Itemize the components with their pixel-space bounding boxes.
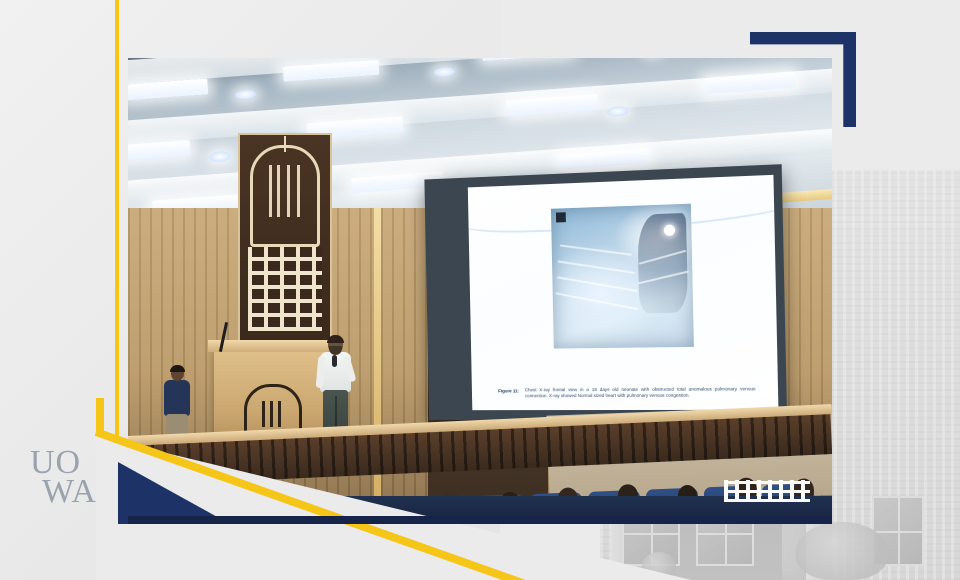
presenter-microphone bbox=[332, 355, 337, 367]
slide-caption: Figure 11: Chest X-ray frontal view in a… bbox=[498, 387, 756, 399]
slide-figure-label: Figure 11: bbox=[498, 388, 519, 394]
ceiling-light-3 bbox=[482, 58, 573, 61]
projection-screen-frame: Figure 11: Chest X-ray frontal view in a… bbox=[424, 164, 787, 420]
xray-rib-2 bbox=[558, 261, 636, 275]
xray-rib-1 bbox=[560, 245, 632, 256]
navy-bottom-band bbox=[128, 516, 832, 524]
ceiling-spot-1 bbox=[234, 89, 257, 101]
xray-rib-4 bbox=[556, 293, 639, 311]
uowa-logo-line2: WA bbox=[30, 477, 97, 506]
chest-xray-radiograph bbox=[551, 204, 695, 349]
xray-corner-marker bbox=[556, 213, 566, 223]
ceiling-light-5 bbox=[128, 140, 191, 162]
xray-rib-3 bbox=[557, 277, 637, 293]
slide-caption-text: Chest X-ray frontal view in a 18 days ol… bbox=[525, 387, 756, 399]
architecture-shrub-1 bbox=[796, 522, 888, 580]
ceiling-spot-2 bbox=[433, 66, 456, 78]
arabic-calligraphy-emblem bbox=[238, 133, 332, 347]
promotional-graphic: Figure 11: Chest X-ray frontal view in a… bbox=[0, 0, 960, 580]
person-left-hair bbox=[170, 365, 185, 372]
lecture-hall-photo: Figure 11: Chest X-ray frontal view in a… bbox=[128, 58, 832, 524]
uowa-logo: UO WA bbox=[30, 448, 97, 506]
presenter-hair bbox=[327, 335, 344, 343]
emblem-calligraphy bbox=[263, 165, 307, 217]
ceiling-spot-5 bbox=[606, 106, 629, 118]
presentation-slide: Figure 11: Chest X-ray frontal view in a… bbox=[468, 175, 779, 410]
emblem-kufic-block bbox=[248, 247, 322, 331]
ceiling-spot-4 bbox=[209, 151, 232, 163]
kufic-arabic-logo bbox=[724, 480, 810, 502]
person-left-shirt bbox=[164, 380, 190, 416]
xray-bright-spot bbox=[663, 224, 674, 235]
